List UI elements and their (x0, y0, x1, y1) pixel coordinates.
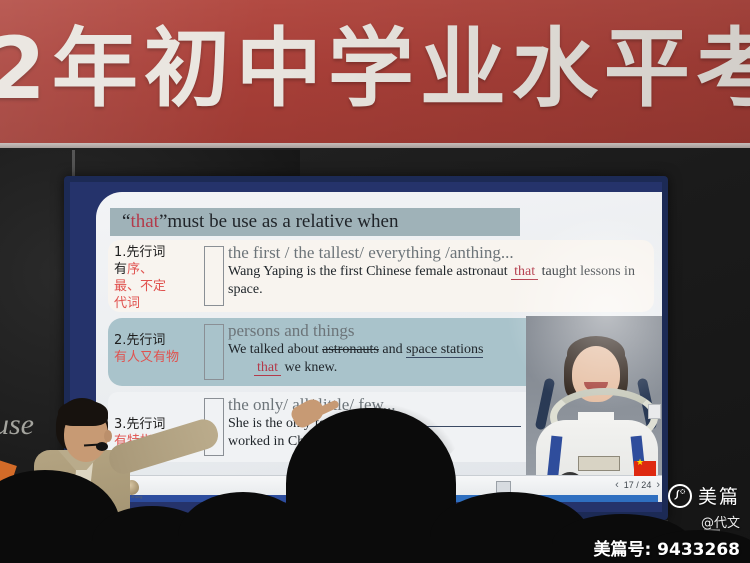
rule-1-l3-red: 最、不定 (114, 278, 204, 295)
rule-1-index: 1.先行词 (114, 244, 204, 261)
rule-2-sentence-line2: that we knew. (228, 359, 540, 377)
teacher-fringe (58, 400, 108, 426)
watermark-user-id: 美篇号: 9433268 (593, 535, 740, 560)
meipian-logo-icon: ༿ (668, 484, 692, 508)
exam-banner: 2年初中学业水平考试 (0, 0, 750, 150)
rule-row-1: 1.先行词 有序、 最、不定 代词 the first / the talles… (108, 240, 654, 312)
rule-1-bracket (204, 246, 224, 306)
next-slide-button[interactable]: › (656, 479, 660, 491)
classroom-photo: 2年初中学业水平考试 use sth sb. whom “ that ” mus… (0, 0, 750, 563)
rule-1-body: the first / the tallest/ everything /ant… (228, 240, 654, 312)
rule-2-underlined-phrase: space stations (406, 342, 483, 358)
prev-slide-button[interactable]: ‹ (615, 479, 619, 491)
rule-2-label: 2.先行词 有人又有物 (108, 318, 204, 386)
watermark-user-handle: @代文 (668, 512, 740, 531)
teacher-ear (104, 430, 112, 442)
rule-1-cue: the first / the tallest/ everything /ant… (228, 242, 654, 263)
rule-2-index: 2.先行词 (114, 322, 204, 349)
rule-1-l2-red: 序、 (127, 262, 153, 277)
slide-counter: 17 / 24 (624, 480, 652, 490)
slide-side-button[interactable] (648, 404, 661, 419)
suit-name-badge (578, 456, 620, 471)
title-quote-close: ” (159, 211, 167, 233)
banner-sheen (0, 0, 750, 150)
watermark-brand: ༿ 美篇 (668, 482, 740, 509)
rule-1-answer-blank: that (511, 264, 538, 280)
headset-mic-icon (96, 442, 108, 451)
slide-navigation: ‹ 17 / 24 › (615, 479, 660, 491)
rule-1-sent-pre: Wang Yaping is the first Chinese female … (228, 264, 511, 279)
title-quote-open: “ (122, 211, 130, 233)
slide-title: “ that ” must be use as a relative when (110, 208, 520, 236)
rule-1-label: 1.先行词 有序、 最、不定 代词 (108, 240, 204, 312)
china-flag-icon (634, 461, 656, 476)
rule-2-sent-post: we knew. (281, 360, 337, 375)
rule-1-sentence: Wang Yaping is the first Chinese female … (228, 263, 654, 299)
rule-1-l2-black: 有 (114, 262, 127, 277)
app-watermark: ༿ 美篇 @代文 (668, 482, 740, 531)
title-keyword: that (130, 211, 159, 233)
rule-2-cue: persons and things (228, 320, 540, 341)
rule-1-l4-red: 代词 (114, 295, 204, 312)
rule-row-2: 2.先行词 有人又有物 persons and things We talked… (108, 318, 540, 386)
title-rest: must be use as a relative when (167, 211, 398, 233)
rule-2-answer-blank: that (254, 360, 281, 376)
rule-2-body: persons and things We talked about astro… (228, 318, 540, 386)
rule-2-sent-mid: and (379, 342, 406, 357)
rule-2-label-red: 有人又有物 (114, 349, 204, 366)
rule-2-sentence: We talked about astronauts and space sta… (228, 341, 540, 359)
rule-2-struck-word: astronauts (322, 342, 379, 357)
watermark-app-name: 美篇 (698, 482, 740, 509)
rule-2-bracket (204, 324, 224, 380)
rule-2-sent-pre: We talked about (228, 342, 322, 357)
